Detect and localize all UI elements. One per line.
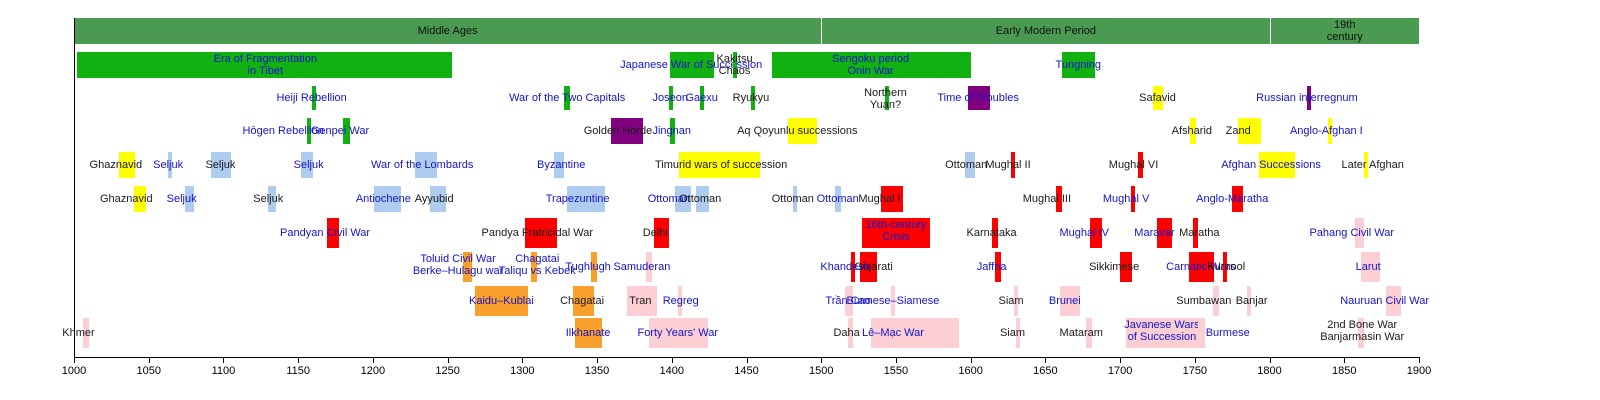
event-label-seljuk: Seljuk (153, 159, 183, 171)
event-label-ilkhanate: Ilkhanate (566, 327, 611, 339)
event-label-tughlugh: Tughlugh (565, 261, 610, 273)
event-label-ryukyu: Ryukyu (733, 92, 770, 104)
axis-tick-label-1100: 1100 (201, 365, 245, 377)
event-label-heiji-rebellion: Heiji Rebellion (276, 92, 346, 104)
event-label-kurnool: Kurnool (1207, 261, 1245, 273)
axis-tick-1400 (672, 357, 673, 363)
event-label-javanese-wars-of-succession: Javanese Wars of Succession (1124, 319, 1199, 344)
axis-tick-1750 (1195, 357, 1196, 363)
event-label-russian-interregnum: Russian interregnum (1256, 92, 1358, 104)
event-label-samuderan: Samuderan (613, 261, 670, 273)
axis-tick-1550 (896, 357, 897, 363)
event-label-burmese: Burmese (1206, 327, 1250, 339)
axis-tick-1100 (223, 357, 224, 363)
event-label-gaexu: Gaexu (685, 92, 717, 104)
event-label-mughal-i: Mughal I (858, 193, 900, 205)
axis-tick-1450 (747, 357, 748, 363)
event-label-kaidu-kublai: Kaidu–Kublai (469, 295, 534, 307)
event-label-genpei-war: Genpei War (311, 125, 369, 137)
axis-tick-1600 (971, 357, 972, 363)
event-label-antiochene: Antiochene (356, 193, 411, 205)
axis-tick-label-1150: 1150 (276, 365, 320, 377)
event-label-toluid-civil-war-berke-hulagu-war: Toluid Civil War Berke–Hulagu war (413, 253, 504, 278)
axis-tick-label-1000: 1000 (52, 365, 96, 377)
event-label-aq-qoyunlu-successions: Aq Qoyunlu successions (737, 125, 857, 137)
event-label-seljuk: Seljuk (253, 193, 283, 205)
event-label-karnataka: Karnataka (967, 227, 1017, 239)
event-label-mataram: Mataram (1060, 327, 1103, 339)
row-green-1: Era of Fragmentation in TibetJapanese Wa… (0, 52, 1600, 78)
row-6: Pandyan Civil WarPandya Fratricidal WarD… (0, 218, 1600, 248)
event-label-mughal-v: Mughal V (1103, 193, 1149, 205)
event-label-ayyubid: Ayyubid (415, 193, 454, 205)
event-label-northern-yuan: Northern Yuan? (864, 87, 907, 112)
event-label-mughal-iii: Mughal III (1023, 193, 1071, 205)
event-label-war-of-the-lombards: War of the Lombards (371, 159, 473, 171)
axis-tick-label-1850: 1850 (1322, 365, 1366, 377)
axis-tick-1700 (1120, 357, 1121, 363)
era-band-label: Middle Ages (418, 25, 478, 37)
event-label-era-of-fragmentation-in-tibet: Era of Fragmentation in Tibet (214, 53, 317, 78)
axis-tick-1150 (298, 357, 299, 363)
event-label-safavid: Safavid (1139, 92, 1176, 104)
event-label-sumbawan: Sumbawan (1176, 295, 1231, 307)
axis-tick-label-1600: 1600 (949, 365, 993, 377)
axis-tick-label-1050: 1050 (127, 365, 171, 377)
event-label-tungning: Tungning (1056, 59, 1101, 71)
axis-tick-1050 (149, 357, 150, 363)
era-band-label: Early Modern Period (996, 25, 1096, 37)
event-label-daha: Daha (833, 327, 859, 339)
axis-tick-label-1550: 1550 (874, 365, 918, 377)
event-label-mughal-ii: Mughal II (985, 159, 1030, 171)
event-label-time-of-troubles: Time of Troubles (937, 92, 1019, 104)
row-2: Heiji RebellionWar of the Two CapitalsJo… (0, 86, 1600, 110)
event-label-tran: Tran (629, 295, 651, 307)
axis-vertical-line (74, 18, 75, 357)
event-label-later-afghan: Later Afghan (1341, 159, 1403, 171)
row-3: Hōgen RebellionGenpei WarGolden HordeJin… (0, 118, 1600, 144)
event-label-siam: Siam (1000, 327, 1025, 339)
axis-tick-label-1250: 1250 (426, 365, 470, 377)
era-band-early-modern-period: Early Modern Period (821, 18, 1269, 44)
axis-tick-1500 (821, 357, 822, 363)
event-label-ottoman: Ottoman (679, 193, 721, 205)
event-label-ottoman: Ottoman (772, 193, 814, 205)
event-label-ghaznavid: Ghaznavid (100, 193, 153, 205)
axis-tick-1800 (1270, 357, 1271, 363)
event-label-khandesh: Khandesh (820, 261, 870, 273)
row-8: Kaidu–KublaiChagataiTranRegregTrần CaoBu… (0, 286, 1600, 316)
event-label-jaffna: Jaffna (977, 261, 1007, 273)
event-label-sengoku-period-onin-war: Sengoku period Onin War (832, 53, 909, 78)
event-label-golden-horde: Golden Horde (584, 125, 653, 137)
era-band-label: 19th century (1327, 19, 1363, 44)
axis-tick-1300 (522, 357, 523, 363)
axis-tick-1000 (74, 357, 75, 363)
event-label-anglo-maratha: Anglo-Maratha (1196, 193, 1268, 205)
axis-tick-1650 (1045, 357, 1046, 363)
event-label-zand: Zand (1226, 125, 1251, 137)
event-label-trapezuntine: Trapezuntine (546, 193, 610, 205)
axis-tick-label-1350: 1350 (575, 365, 619, 377)
axis-tick-label-1200: 1200 (351, 365, 395, 377)
event-label-timurid-wars-of-succession: Timurid wars of succession (655, 159, 787, 171)
event-label-nauruan-civil-war: Nauruan Civil War (1340, 295, 1429, 307)
event-label-byzantine: Byzantine (537, 159, 585, 171)
era-band-19th-century: 19th century (1270, 18, 1419, 44)
axis-tick-1200 (373, 357, 374, 363)
event-label-chagatai: Chagatai (560, 295, 604, 307)
axis-tick-label-1800: 1800 (1248, 365, 1292, 377)
era-band-middle-ages: Middle Ages (74, 18, 821, 44)
row-5: GhaznavidSeljukSeljukAntiocheneAyyubidTr… (0, 186, 1600, 212)
event-label-mughal-vi: Mughal VI (1109, 159, 1159, 171)
axis-tick-label-1300: 1300 (500, 365, 544, 377)
event-label-maratha: Maratha (1179, 227, 1219, 239)
event-label-seljuk: Seljuk (205, 159, 235, 171)
axis-tick-label-1500: 1500 (799, 365, 843, 377)
axis-tick-label-1900: 1900 (1397, 365, 1441, 377)
axis-tick-label-1450: 1450 (725, 365, 769, 377)
axis-tick-label-1750: 1750 (1173, 365, 1217, 377)
event-label-16th-century-crisis: 16th-century Crisis (865, 219, 926, 244)
axis-tick-1900 (1419, 357, 1420, 363)
event-label-khmer: Khmer (62, 327, 94, 339)
axis-tick-1850 (1344, 357, 1345, 363)
event-label-kakitsu-chaos: Kakitsu Chaos (716, 53, 752, 78)
event-label-sikkimese: Sikkimese (1089, 261, 1139, 273)
event-label-siam: Siam (998, 295, 1023, 307)
event-label-mughal-iv: Mughal IV (1059, 227, 1109, 239)
event-label-ottoman: Ottoman (817, 193, 859, 205)
event-label-delhi: Delhi (643, 227, 668, 239)
event-label-2nd-bone-war-banjarmasin-war: 2nd Bone War Banjarmasin War (1320, 319, 1404, 344)
axis-tick-label-1400: 1400 (650, 365, 694, 377)
event-label-ottoman: Ottoman (945, 159, 987, 171)
event-label-brunei: Brunei (1049, 295, 1081, 307)
event-label-afghan-successions: Afghan Successions (1221, 159, 1321, 171)
event-label-afsharid: Afsharid (1172, 125, 1212, 137)
axis-tick-label-1700: 1700 (1098, 365, 1142, 377)
event-label-jingnan: Jingnan (652, 125, 691, 137)
event-label-burmese-siamese: Burmese–Siamese (846, 295, 939, 307)
event-label-pahang-civil-war: Pahang Civil War (1309, 227, 1394, 239)
event-label-l-m-c-war: Lê–Mạc War (862, 327, 924, 339)
row-7: Toluid Civil War Berke–Hulagu warChagata… (0, 252, 1600, 282)
event-bar-burmese[interactable] (1198, 318, 1205, 348)
timeline-canvas: Middle AgesEarly Modern Period19th centu… (0, 0, 1600, 400)
event-label-anglo-afghan-i: Anglo-Afghan I (1290, 125, 1363, 137)
event-label-seljuk: Seljuk (294, 159, 324, 171)
event-label-larut: Larut (1356, 261, 1381, 273)
event-label-seljuk: Seljuk (167, 193, 197, 205)
row-4: GhaznavidSeljukSeljukSeljukWar of the Lo… (0, 152, 1600, 178)
axis-tick-label-1650: 1650 (1023, 365, 1067, 377)
event-label-joseon: Joseon (653, 92, 688, 104)
event-label-regreg: Regreg (663, 295, 699, 307)
event-label-maravar: Maravar (1134, 227, 1174, 239)
event-label-war-of-the-two-capitals: War of the Two Capitals (509, 92, 625, 104)
axis-tick-1250 (448, 357, 449, 363)
row-9: KhmerIlkhanateForty Years' WarDahaLê–Mạc… (0, 318, 1600, 348)
event-label-chagatai-taliqu-vs-kebek: Chagatai Taliqu vs Kebek (499, 253, 576, 278)
event-label-forty-years-war: Forty Years' War (637, 327, 718, 339)
event-label-banjar: Banjar (1236, 295, 1268, 307)
event-label-ghaznavid: Ghaznavid (90, 159, 143, 171)
event-label-pandya-fratricidal-war: Pandya Fratricidal War (482, 227, 593, 239)
event-label-pandyan-civil-war: Pandyan Civil War (280, 227, 370, 239)
axis-tick-1350 (597, 357, 598, 363)
